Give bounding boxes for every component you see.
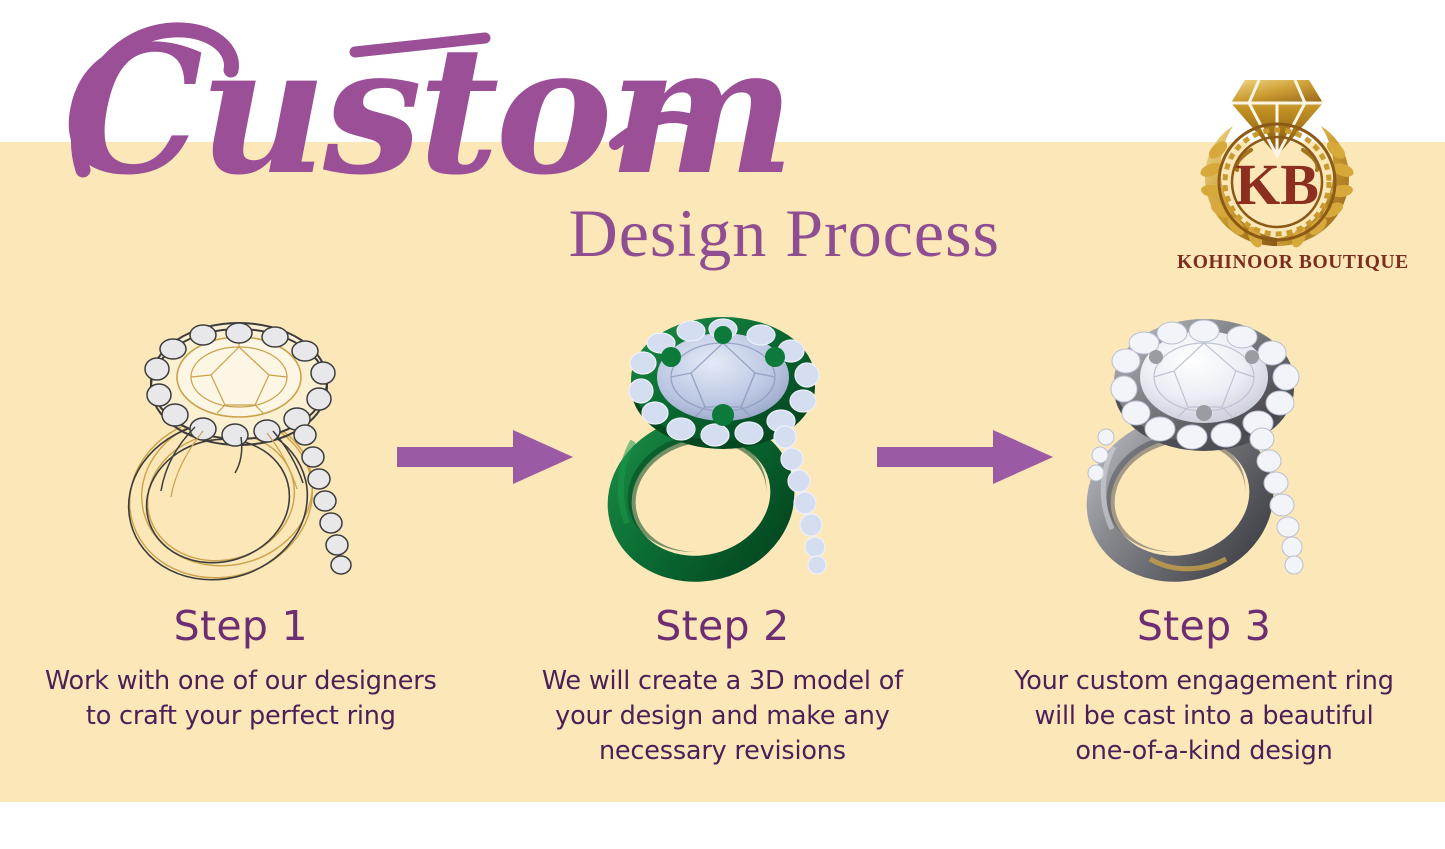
step-1-caption: Step 1 Work with one of our designers to… [0,602,482,769]
step-3-description-line: one-of-a-kind design [981,734,1427,769]
step-2-description-line: your design and make any [500,699,946,734]
step-1-description-line: to craft your perfect ring [18,699,464,734]
step-2-caption: Step 2 We will create a 3D model of your… [482,602,964,769]
script-tail-m [615,117,691,144]
step-3-description-line: will be cast into a beautiful [981,699,1427,734]
steps-visual-row [0,296,1445,596]
step-3-description-line: Your custom engagement ring [981,664,1427,699]
arrow-step1-to-step2 [395,427,575,487]
logo-mark: KB [1177,58,1377,254]
step-1-description-line: Work with one of our designers [18,664,464,699]
shank-stones [294,425,351,574]
arrow-step2-to-step3 [875,427,1055,487]
step-3-description: Your custom engagement ring will be cast… [981,664,1427,769]
step-3-title: Step 3 [981,602,1427,650]
logo-wordmark: KOHINOOR BOUTIQUE [1177,252,1377,274]
arrow-right-icon [875,427,1055,487]
ring-3d-cad-model [573,301,873,591]
step-2-description-line: We will create a 3D model of [500,664,946,699]
step-2-description-line: necessary revisions [500,734,946,769]
step-1-description: Work with one of our designers to craft … [18,664,464,734]
ring-finished-photo [1054,301,1354,591]
arrow-right-icon [395,427,575,487]
brand-logo[interactable]: KB KOHINOOR BOUTIQUE [1177,58,1377,283]
step-2-title: Step 2 [500,602,946,650]
script-crossbar-t [355,38,485,52]
ring-sketch-illustration [91,301,391,591]
step-2-description: We will create a 3D model of your design… [500,664,946,769]
custom-design-process-banner: Custom Design Process [0,0,1445,849]
steps-caption-row: Step 1 Work with one of our designers to… [0,602,1445,769]
step-1-title: Step 1 [18,602,464,650]
step-3-caption: Step 3 Your custom engagement ring will … [963,602,1445,769]
logo-monogram: KB [1235,152,1319,217]
headline-design-process: Design Process [0,196,1000,270]
